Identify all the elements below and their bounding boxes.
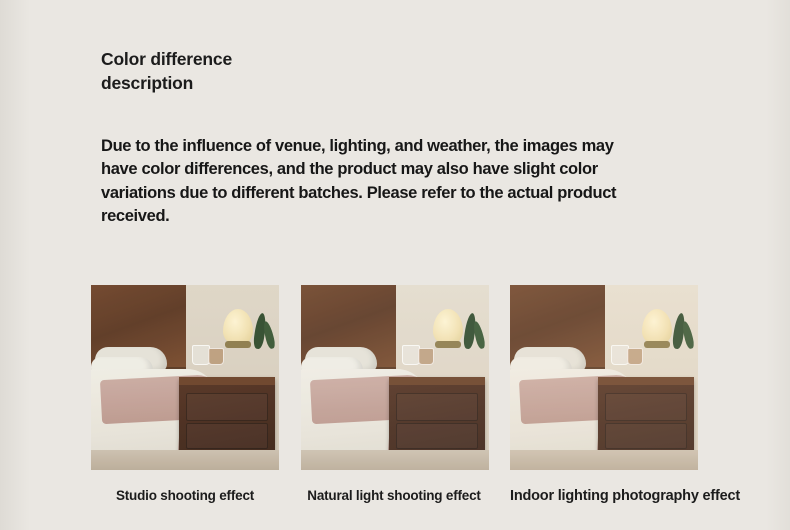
bedroom-scene: [510, 285, 698, 470]
nightstand-drawer: [605, 423, 687, 449]
glass-cup: [418, 348, 434, 365]
nightstand-top: [598, 377, 694, 385]
gallery-item: Indoor lighting photography effect: [510, 285, 698, 504]
nightstand-drawer: [186, 423, 268, 449]
nightstand: [389, 377, 485, 455]
table-lamp: [642, 309, 672, 345]
page-root: Color differencedescription Due to the i…: [0, 0, 790, 530]
floor: [91, 450, 279, 470]
description-paragraph: Due to the influence of venue, lighting,…: [101, 135, 633, 228]
gallery-item: Studio shooting effect: [91, 285, 279, 503]
photo-caption: Natural light shooting effect: [299, 488, 489, 503]
nightstand-drawer: [396, 423, 478, 449]
nightstand-drawer: [605, 393, 687, 421]
glass-cup: [627, 348, 643, 365]
page-title: Color differencedescription: [101, 47, 431, 95]
gallery-item: Natural light shooting effect: [301, 285, 489, 503]
floor: [510, 450, 698, 470]
bedroom-scene: [301, 285, 489, 470]
nightstand-top: [179, 377, 275, 385]
product-photo-indoor-lighting: [510, 285, 698, 470]
table-lamp: [223, 309, 253, 345]
nightstand-top: [389, 377, 485, 385]
product-photo-natural-light: [301, 285, 489, 470]
table-lamp-base: [644, 341, 670, 348]
table-lamp-base: [435, 341, 461, 348]
floor: [301, 450, 489, 470]
nightstand-drawer: [396, 393, 478, 421]
photo-caption: Studio shooting effect: [91, 488, 279, 503]
photo-caption: Indoor lighting photography effect: [510, 488, 698, 504]
table-lamp-base: [225, 341, 251, 348]
bedroom-scene: [91, 285, 279, 470]
photo-gallery: Studio shooting effect: [91, 285, 711, 515]
table-lamp: [433, 309, 463, 345]
nightstand: [598, 377, 694, 455]
glass-cup: [208, 348, 224, 365]
nightstand-drawer: [186, 393, 268, 421]
product-photo-studio: [91, 285, 279, 470]
nightstand: [179, 377, 275, 455]
